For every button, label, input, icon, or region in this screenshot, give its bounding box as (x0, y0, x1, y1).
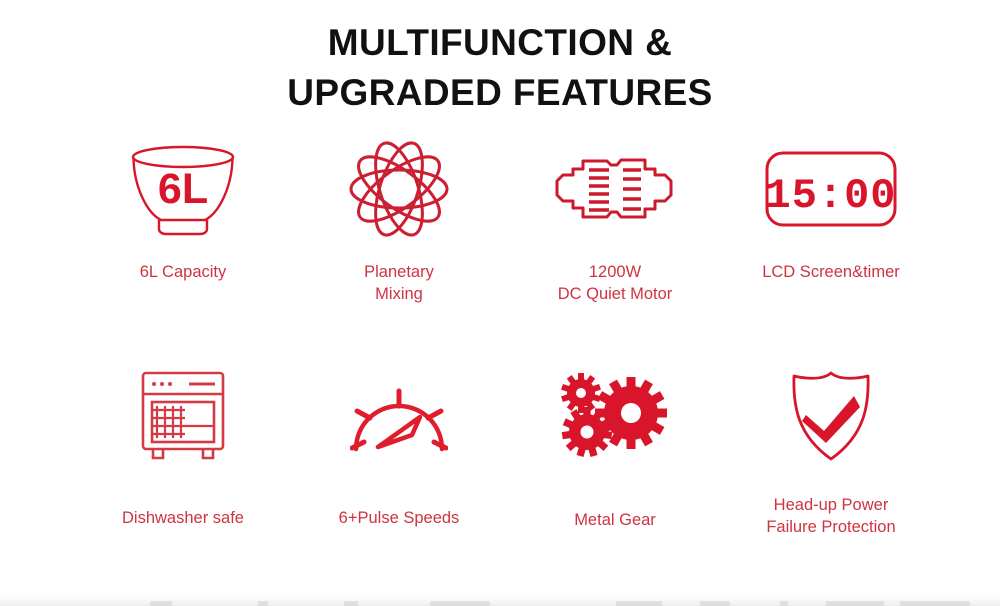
feature-item-dishwasher: Dishwasher safe (72, 360, 294, 585)
feature-label-lcd: LCD Screen&timer (762, 261, 900, 283)
feature-item-gears: Metal Gear (504, 360, 726, 585)
lcd-timer-icon: 15:00 (765, 135, 897, 243)
feature-label-protection: Head-up Power Failure Protection (766, 494, 895, 538)
page-title-line-2: UPGRADED FEATURES (0, 68, 1000, 118)
feature-row-2: Dishwasher safe (0, 360, 1000, 585)
feature-label-motor: 1200W DC Quiet Motor (558, 261, 673, 305)
lcd-timer-text: 15:00 (765, 172, 896, 220)
feature-item-motor: 1200W DC Quiet Motor (504, 135, 726, 360)
feature-label-gears: Metal Gear (574, 509, 656, 531)
motor-icon (553, 135, 677, 243)
feature-highlight-page: MULTIFUNCTION & UPGRADED FEATURES 6L 6L … (0, 0, 1000, 606)
feature-grid: 6L 6L Capacity (0, 135, 1000, 585)
bowl-capacity-text: 6L (158, 165, 208, 213)
feature-item-protection: Head-up Power Failure Protection (720, 360, 942, 585)
feature-label-speeds: 6+Pulse Speeds (339, 507, 460, 529)
feature-item-planetary: Planetary Mixing (288, 135, 510, 360)
page-title: MULTIFUNCTION & UPGRADED FEATURES (0, 18, 1000, 118)
feature-label-planetary: Planetary Mixing (364, 261, 434, 305)
feature-label-capacity: 6L Capacity (140, 261, 227, 283)
feature-item-speeds: 6+Pulse Speeds (288, 360, 510, 585)
feature-label-dishwasher: Dishwasher safe (122, 507, 244, 529)
planetary-orbit-icon (347, 135, 451, 243)
dishwasher-icon (139, 360, 227, 472)
shield-check-icon (784, 360, 878, 472)
bottom-edge-strip (0, 592, 1000, 606)
page-title-line-1: MULTIFUNCTION & (0, 18, 1000, 68)
mixing-bowl-icon: 6L (125, 135, 241, 243)
feature-item-lcd: 15:00 LCD Screen&timer (720, 135, 942, 360)
feature-item-capacity: 6L 6L Capacity (72, 135, 294, 360)
speedometer-icon (350, 360, 448, 472)
gears-icon (559, 360, 671, 472)
feature-row-1: 6L 6L Capacity (0, 135, 1000, 360)
